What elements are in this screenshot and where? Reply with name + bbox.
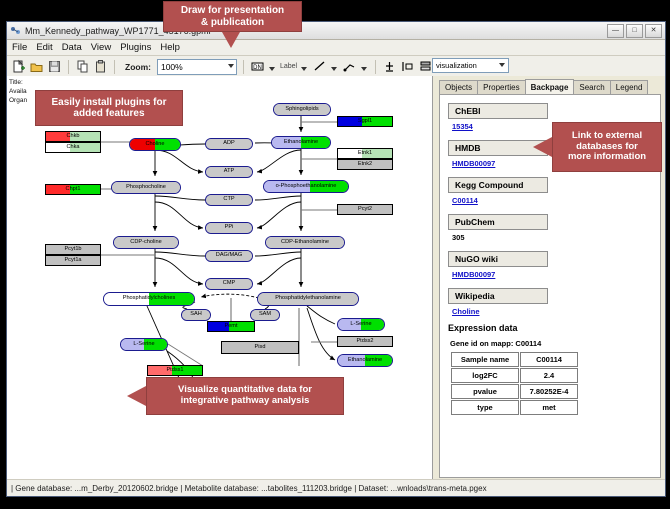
- node-label: L-Serine: [133, 342, 154, 348]
- db-pubchem-value: 305: [452, 233, 660, 242]
- db-kegg-head: Kegg Compound: [448, 177, 548, 193]
- draw-callout: Draw for presentation & publication: [163, 1, 302, 32]
- node-label: ADP: [223, 141, 235, 147]
- exp-val-sample-name: C00114: [520, 352, 578, 367]
- menu-bar: File Edit Data View Plugins Help: [7, 40, 665, 56]
- visualization-select[interactable]: visualization: [432, 58, 509, 73]
- node-label: Chka: [66, 145, 79, 151]
- new-file-icon[interactable]: [11, 59, 26, 74]
- exp-val-log2fc: 2.4: [520, 368, 578, 383]
- visualize-callout: Visualize quantitative data for integrat…: [146, 377, 344, 415]
- expression-table: Sample name C00114 log2FC 2.4 pvalue 7.8…: [450, 351, 579, 416]
- anchor-icon[interactable]: [382, 59, 397, 74]
- pathway-node-etnk2[interactable]: Etnk2: [337, 159, 393, 170]
- line-dropdown-icon[interactable]: [331, 67, 337, 71]
- toolbar-separator-4: [375, 60, 376, 74]
- tool-bar: Zoom: 100% DN Label: [7, 56, 665, 78]
- visualize-callout-text: Visualize quantitative data for integrat…: [178, 385, 312, 407]
- application-window: Mm_Kennedy_pathway_WP1771_45176.gpml — □…: [6, 21, 666, 497]
- exp-val-pvalue: 7.80252E-4: [520, 384, 578, 399]
- node-label: Phosphatidylethanolamine: [275, 296, 341, 302]
- pathway-node-pcyt1b[interactable]: Pcyt1b: [45, 244, 101, 255]
- plugins-callout-text: Easily install plugins for added feature…: [51, 97, 166, 120]
- node-label: Pcyt2: [358, 207, 372, 213]
- minimize-button[interactable]: —: [607, 24, 624, 38]
- chevron-down-icon: [228, 64, 234, 68]
- node-label: Pemt: [224, 324, 237, 330]
- node-label: SAM: [259, 312, 271, 318]
- pathway-canvas[interactable]: Title: Availa Organ: [7, 76, 433, 480]
- pathway-node-chpt1[interactable]: Chpt1: [45, 184, 101, 195]
- pathway-node-cdp-ethanolamine[interactable]: CDP-Ethanolamine: [265, 236, 345, 249]
- link-callout: Link to external databases for more info…: [552, 122, 662, 172]
- node-label: ATP: [224, 169, 234, 175]
- node-label: Etnk1: [358, 151, 372, 157]
- open-folder-icon[interactable]: [29, 59, 44, 74]
- pathway-node-l-serine-left[interactable]: L-Serine: [120, 338, 168, 351]
- pathway-node-phosphocholine[interactable]: Phosphocholine: [111, 181, 181, 194]
- status-bar: | Gene database: ...m_Derby_20120602.bri…: [7, 479, 665, 496]
- node-label: Etnk2: [358, 162, 372, 168]
- interaction-dropdown-icon[interactable]: [361, 67, 367, 71]
- db-nugo-link[interactable]: HMDB00097: [452, 270, 660, 279]
- pathway-node-pemt[interactable]: Pemt: [207, 321, 255, 332]
- pathway-node-sphingolipids[interactable]: Sphingolipids: [273, 103, 331, 116]
- exp-key-sample-name: Sample name: [451, 352, 519, 367]
- app-icon: [10, 25, 21, 36]
- node-label: Pisd: [255, 345, 266, 351]
- node-label: Sphingolipids: [285, 107, 318, 113]
- line-icon[interactable]: [312, 59, 327, 74]
- visualization-select-value: visualization: [436, 61, 477, 70]
- interaction-icon[interactable]: [342, 59, 357, 74]
- draw-callout-arrow: [222, 32, 240, 48]
- exp-key-type: type: [451, 400, 519, 415]
- link-callout-text: Link to external databases for more info…: [568, 131, 646, 164]
- node-label: Phosphocholine: [126, 185, 166, 191]
- table-row: Sample name C00114: [451, 352, 578, 367]
- pathway-node-dagmag[interactable]: DAG/MAG: [205, 250, 253, 262]
- exp-key-pvalue: pvalue: [451, 384, 519, 399]
- pathway-node-sgpl1[interactable]: Sgpl1: [337, 116, 393, 127]
- status-bar-text: | Gene database: ...m_Derby_20120602.bri…: [11, 484, 487, 493]
- pathway-node-l-serine-right[interactable]: L-Serine: [337, 318, 385, 331]
- pathway-node-chkb[interactable]: Chkb: [45, 131, 101, 142]
- pathway-node-ctp[interactable]: CTP: [205, 194, 253, 206]
- node-label: Phosphatidylcholines: [123, 296, 176, 302]
- expression-gene-id: Gene id on mapp: C00114: [450, 339, 660, 348]
- node-label: Ethanolamine: [348, 358, 382, 364]
- pathway-node-ethanolamine-top[interactable]: Ethanolamine: [271, 136, 331, 149]
- exp-key-log2fc: log2FC: [451, 368, 519, 383]
- pathway-node-pcyt1a[interactable]: Pcyt1a: [45, 255, 101, 266]
- visualize-callout-arrow: [127, 386, 146, 406]
- toolbar-separator-2: [114, 60, 115, 74]
- db-nugo-head: NuGO wiki: [448, 251, 548, 267]
- node-label: DAG/MAG: [216, 253, 242, 259]
- maximize-button[interactable]: □: [626, 24, 643, 38]
- table-row: type met: [451, 400, 578, 415]
- tab-backpage[interactable]: Backpage: [525, 79, 575, 94]
- datanode-icon[interactable]: DN: [250, 59, 265, 74]
- table-row: log2FC 2.4: [451, 368, 578, 383]
- save-icon[interactable]: [47, 59, 62, 74]
- title-bar: Mm_Kennedy_pathway_WP1771_45176.gpml — □…: [7, 22, 665, 40]
- stack-icon[interactable]: [418, 59, 433, 74]
- pathway-node-sam[interactable]: SAM: [250, 309, 280, 321]
- svg-text:DN: DN: [253, 65, 262, 71]
- node-label: Ptdss2: [356, 339, 373, 345]
- copy-icon[interactable]: [75, 59, 90, 74]
- node-label: Pcyt1b: [64, 247, 81, 253]
- screenshot-root: Mm_Kennedy_pathway_WP1771_45176.gpml — □…: [0, 0, 670, 509]
- plugins-callout: Easily install plugins for added feature…: [35, 90, 183, 126]
- tab-search[interactable]: Search: [573, 80, 610, 95]
- menu-view[interactable]: View: [91, 42, 111, 53]
- node-label: L-Serine: [350, 322, 371, 328]
- draw-callout-text: Draw for presentation & publication: [181, 5, 284, 28]
- node-label: SAH: [190, 312, 202, 318]
- node-label: Chkb: [66, 134, 79, 140]
- node-label: Choline: [146, 142, 165, 148]
- pathway-node-etnk1[interactable]: Etnk1: [337, 148, 393, 159]
- toolbar-separator-3: [243, 60, 244, 74]
- chevron-down-icon: [499, 63, 505, 67]
- menu-help[interactable]: Help: [160, 42, 180, 53]
- pathway-node-ethanolamine-right[interactable]: Ethanolamine: [337, 354, 393, 367]
- pathway-node-cmp[interactable]: CMP: [205, 278, 253, 290]
- pathway-node-chka[interactable]: Chka: [45, 142, 101, 153]
- link-callout-arrow: [533, 137, 552, 157]
- node-label: Sgpl1: [358, 119, 372, 125]
- align-left-icon[interactable]: [400, 59, 415, 74]
- zoom-label: Zoom:: [125, 62, 151, 72]
- pathway-node-pcyt2[interactable]: Pcyt2: [337, 204, 393, 215]
- pathway-node-sah[interactable]: SAH: [181, 309, 211, 321]
- menu-data[interactable]: Data: [62, 42, 82, 53]
- node-label: CDP-Ethanolamine: [281, 240, 329, 246]
- pathway-node-ptdss2[interactable]: Ptdss2: [337, 336, 393, 347]
- datanode-dropdown-icon[interactable]: [269, 67, 275, 71]
- node-label: o-Phosphoethanolamine: [276, 184, 337, 190]
- menu-plugins[interactable]: Plugins: [120, 42, 151, 53]
- node-label: Ethanolamine: [284, 140, 318, 146]
- tab-properties[interactable]: Properties: [477, 80, 525, 95]
- expression-data-title: Expression data: [448, 323, 660, 333]
- label-tool-label[interactable]: Label: [280, 63, 297, 70]
- tab-legend[interactable]: Legend: [610, 80, 649, 95]
- pathway-node-ppi[interactable]: PPi: [205, 222, 253, 234]
- db-wikipedia-link[interactable]: Choline: [452, 307, 660, 316]
- close-button[interactable]: ✕: [645, 24, 662, 38]
- db-chebi-head: ChEBI: [448, 103, 548, 119]
- node-label: Pcyt1a: [64, 258, 81, 264]
- node-label: Ptdss1: [166, 368, 183, 374]
- pathway-node-phosphatidylcholines[interactable]: Phosphatidylcholines: [103, 292, 195, 306]
- node-label: PPi: [225, 225, 234, 231]
- side-panel-tabs: Objects Properties Backpage Search Legen…: [439, 80, 665, 95]
- tab-objects[interactable]: Objects: [439, 80, 478, 95]
- pathway-node-cdp-choline[interactable]: CDP-choline: [113, 236, 179, 249]
- pathway-node-choline-top[interactable]: Choline: [129, 138, 181, 151]
- zoom-value: 100%: [161, 62, 183, 72]
- node-label: CTP: [223, 197, 234, 203]
- db-wikipedia-head: Wikipedia: [448, 288, 548, 304]
- table-row: pvalue 7.80252E-4: [451, 384, 578, 399]
- zoom-combo[interactable]: 100%: [157, 59, 237, 75]
- node-label: CMP: [223, 281, 235, 287]
- pathway-node-o-phosphoethanolamine[interactable]: o-Phosphoethanolamine: [263, 180, 349, 193]
- pathway-node-ptdss1[interactable]: Ptdss1: [147, 365, 203, 376]
- menu-edit[interactable]: Edit: [36, 42, 52, 53]
- label-dropdown-icon[interactable]: [301, 67, 307, 71]
- pathway-node-atp[interactable]: ATP: [205, 166, 253, 178]
- pathway-node-phosphatidylethanolamine[interactable]: Phosphatidylethanolamine: [257, 292, 359, 306]
- node-label: Chpt1: [66, 187, 81, 193]
- db-kegg-link[interactable]: C00114: [452, 196, 660, 205]
- menu-file[interactable]: File: [12, 42, 27, 53]
- pathway-node-adp[interactable]: ADP: [205, 138, 253, 150]
- window-controls: — □ ✕: [607, 24, 662, 38]
- exp-val-type: met: [520, 400, 578, 415]
- paste-icon[interactable]: [93, 59, 108, 74]
- toolbar-separator-1: [68, 60, 69, 74]
- pathway-node-pisd[interactable]: Pisd: [221, 341, 299, 354]
- node-label: CDP-choline: [130, 240, 161, 246]
- db-pubchem-head: PubChem: [448, 214, 548, 230]
